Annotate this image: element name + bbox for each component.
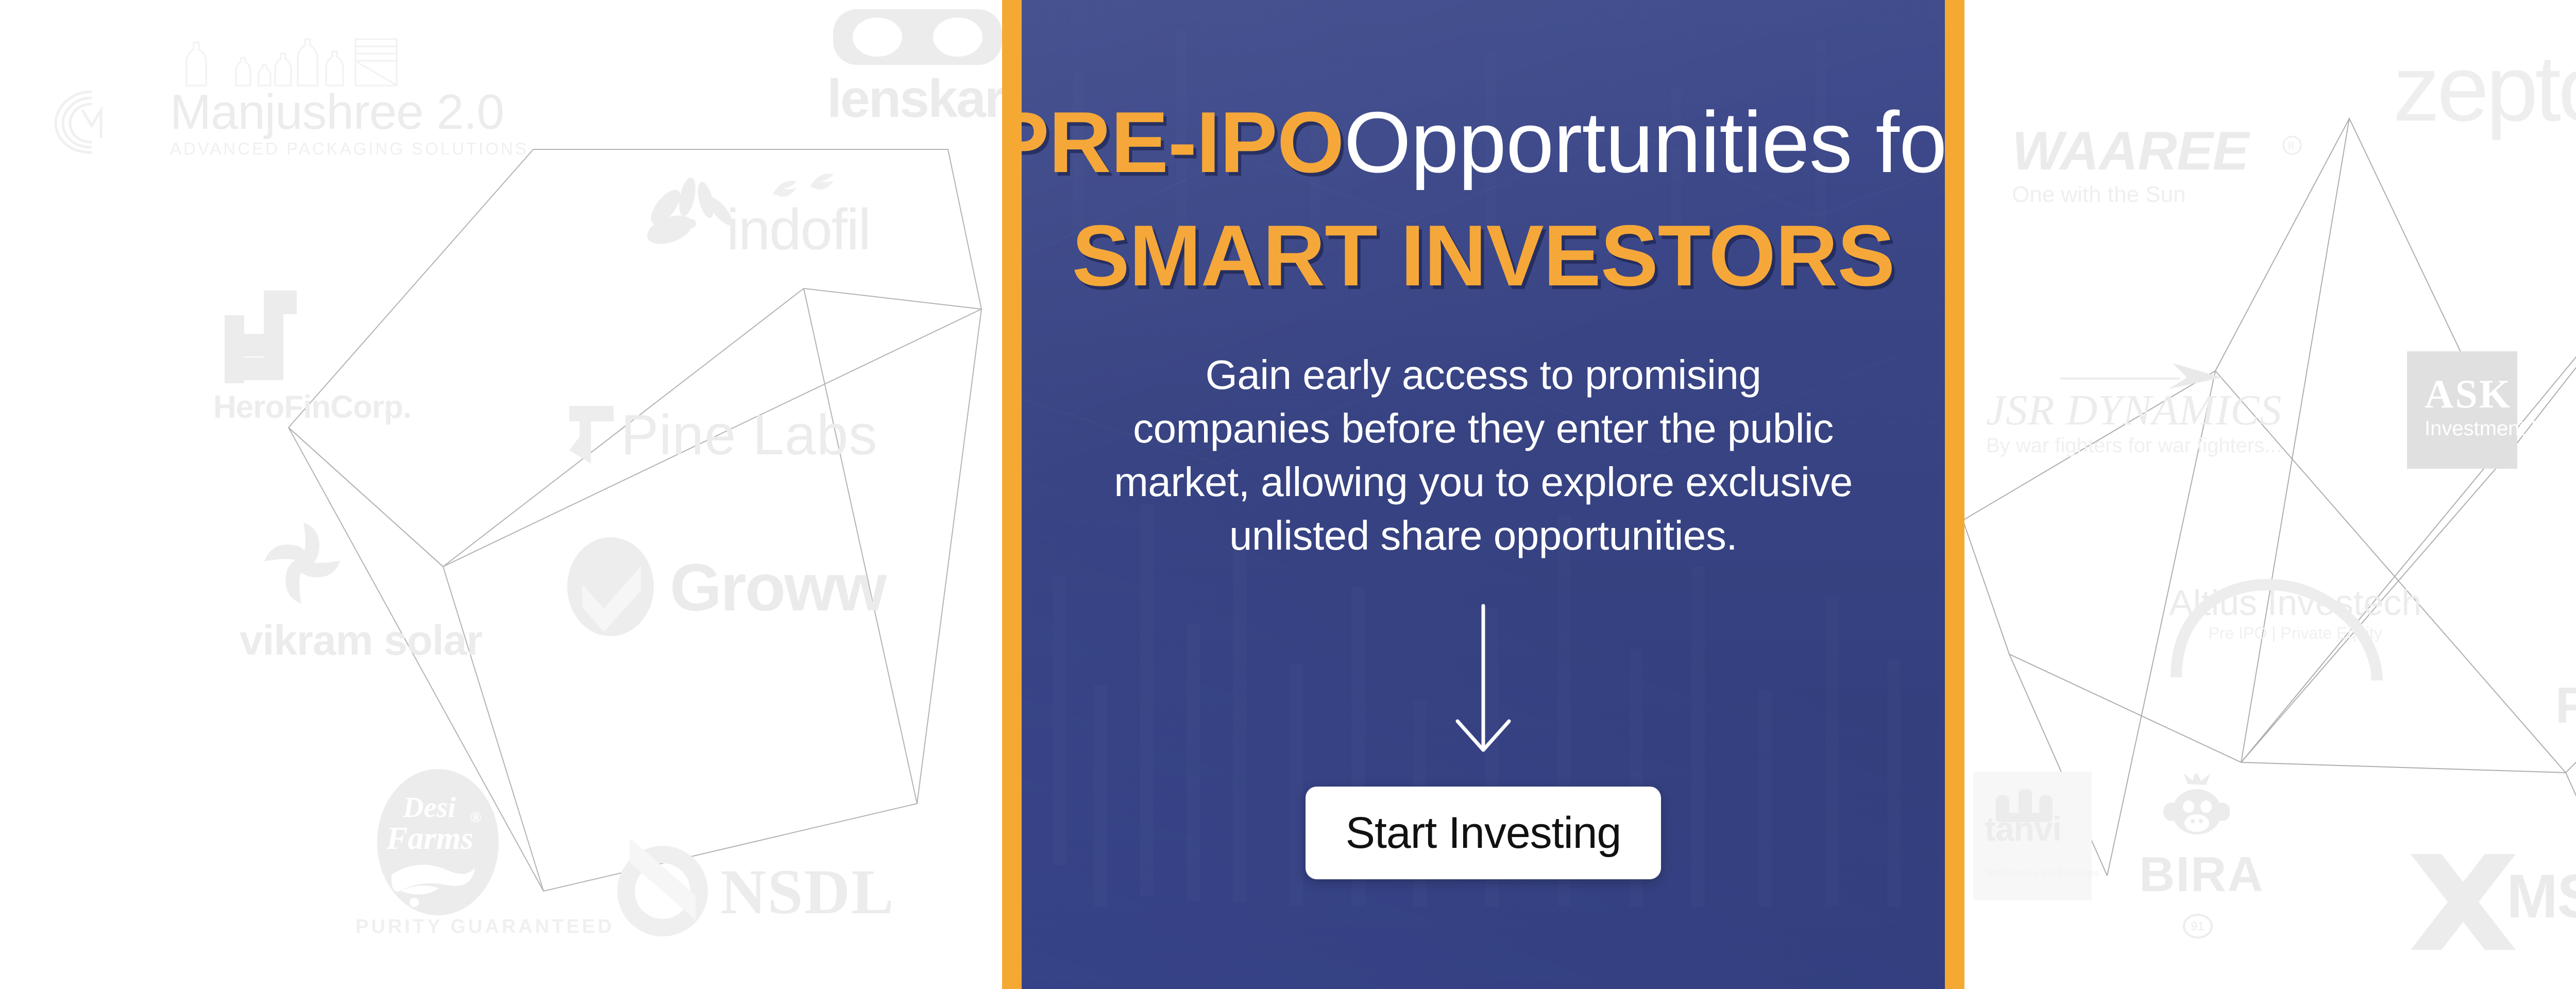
logo-tagline: Investment Managers <box>2425 417 2517 440</box>
logo-zepto: zepto <box>2393 41 2576 135</box>
logo-name: lenskart <box>827 72 1020 126</box>
headline-rest: Opportunities for <box>1344 94 1945 191</box>
logo-tanvi: tanvi TABP Snacks and Beverages <box>1973 772 2092 900</box>
logo-name: Groww <box>670 554 885 621</box>
down-arrow-icon <box>1439 603 1527 760</box>
start-investing-button[interactable]: Start Investing <box>1306 787 1661 879</box>
pre-ipo-banner: Manjushree 2.0 ADVANCED PACKAGING SOLUTI… <box>0 0 2576 989</box>
logo-name: JSR DYNAMICS <box>1986 389 2282 432</box>
nsdl-swirl-icon <box>611 840 714 943</box>
svg-text:Farms: Farms <box>386 821 473 856</box>
svg-text:R: R <box>2287 139 2295 152</box>
bira-91-badge-icon: 91 <box>2182 911 2213 942</box>
tanvi-crown-icon <box>1990 787 2062 823</box>
logo-indofil: indofil <box>726 201 870 259</box>
logo-vikram-solar: vikram solar <box>240 618 482 664</box>
logo-name: NSDL <box>720 860 895 924</box>
headline-line-1: PRE-IPOOpportunities for <box>1022 99 1945 185</box>
manjushree-mark-icon <box>52 80 134 163</box>
logo-tagline: TABP Snacks and Beverages <box>1985 868 2092 877</box>
eyeglasses-icon <box>830 2 1005 74</box>
logo-name: PharmEasy <box>2555 680 2576 730</box>
logo-herofincorp: HeroFinCorp. <box>213 391 411 423</box>
logo-altius-investech: Altius Investech Pre IPO | Private Equit… <box>2169 585 2421 641</box>
leaf-and-birds-icon <box>634 174 762 257</box>
waaree-registered-icon: R <box>2282 135 2302 156</box>
x-mark-icon <box>2403 848 2537 956</box>
svg-text:Desi: Desi <box>402 792 456 824</box>
logo-desi-farms: Desi Farms ® Desi Farms PURITY GUARANTEE… <box>355 917 614 936</box>
logo-name: ASK <box>2425 374 2517 414</box>
hero-panel: PRE-IPOOpportunities for SMART INVESTORS… <box>1002 0 1964 989</box>
logo-name: HeroFinCorp. <box>213 391 411 423</box>
logo-msei: MSEI <box>2506 865 2576 927</box>
logo-name: Pine Labs <box>621 407 877 464</box>
logo-manjushree: Manjushree 2.0 ADVANCED PACKAGING SOLUTI… <box>170 88 529 157</box>
hero-h-icon <box>219 291 312 383</box>
groww-leaf-icon <box>562 535 659 638</box>
doves-icon <box>762 166 855 212</box>
headline-highlight: PRE-IPO <box>1022 94 1344 191</box>
svg-text:91: 91 <box>2191 919 2205 933</box>
logo-lenskart: lenskart <box>827 72 1020 126</box>
headline: PRE-IPOOpportunities for SMART INVESTORS <box>1022 99 1945 299</box>
desi-farms-badge-icon: Desi Farms ® <box>361 768 515 922</box>
logo-nsdl: NSDL <box>720 860 895 924</box>
logo-tagline: By war fighters for war fighters... <box>1986 435 2282 456</box>
logo-pharmeasy: PharmEasy <box>2555 680 2576 730</box>
hero-description: Gain early access to promising companies… <box>1105 348 1862 562</box>
logo-jsr-dynamics: JSR DYNAMICS By war fighters for war fig… <box>1986 389 2282 456</box>
arc-icon <box>2156 559 2403 688</box>
logo-pinelabs: Pine Labs <box>621 407 877 464</box>
logo-bira: BIRA 91 <box>2139 850 2264 899</box>
logo-name: zepto <box>2393 41 2576 135</box>
logo-name: BIRA <box>2139 850 2264 899</box>
logo-name: WAAREE <box>2012 124 2248 178</box>
logo-tagline: ADVANCED PACKAGING SOLUTIONS <box>170 140 529 157</box>
logo-ask-investment-managers: ASK Investment Managers <box>2407 351 2517 469</box>
svg-text:®: ® <box>470 809 481 826</box>
logo-groww: Groww <box>670 554 885 621</box>
arrow-dart-icon <box>2060 362 2225 392</box>
hero-panel-inner: PRE-IPOOpportunities for SMART INVESTORS… <box>1022 0 1945 989</box>
pine-flag-icon <box>564 404 621 466</box>
monkey-face-icon <box>2163 774 2230 846</box>
bottles-and-swirl-icon <box>165 34 464 91</box>
logo-waaree: WAAREE R One with the Sun <box>2012 124 2248 206</box>
headline-line-2: SMART INVESTORS <box>1022 212 1945 299</box>
logo-name: Manjushree 2.0 <box>170 88 529 137</box>
logo-name: vikram solar <box>240 618 482 664</box>
pinwheel-sun-icon <box>254 517 352 610</box>
logo-tagline: One with the Sun <box>2012 183 2248 206</box>
